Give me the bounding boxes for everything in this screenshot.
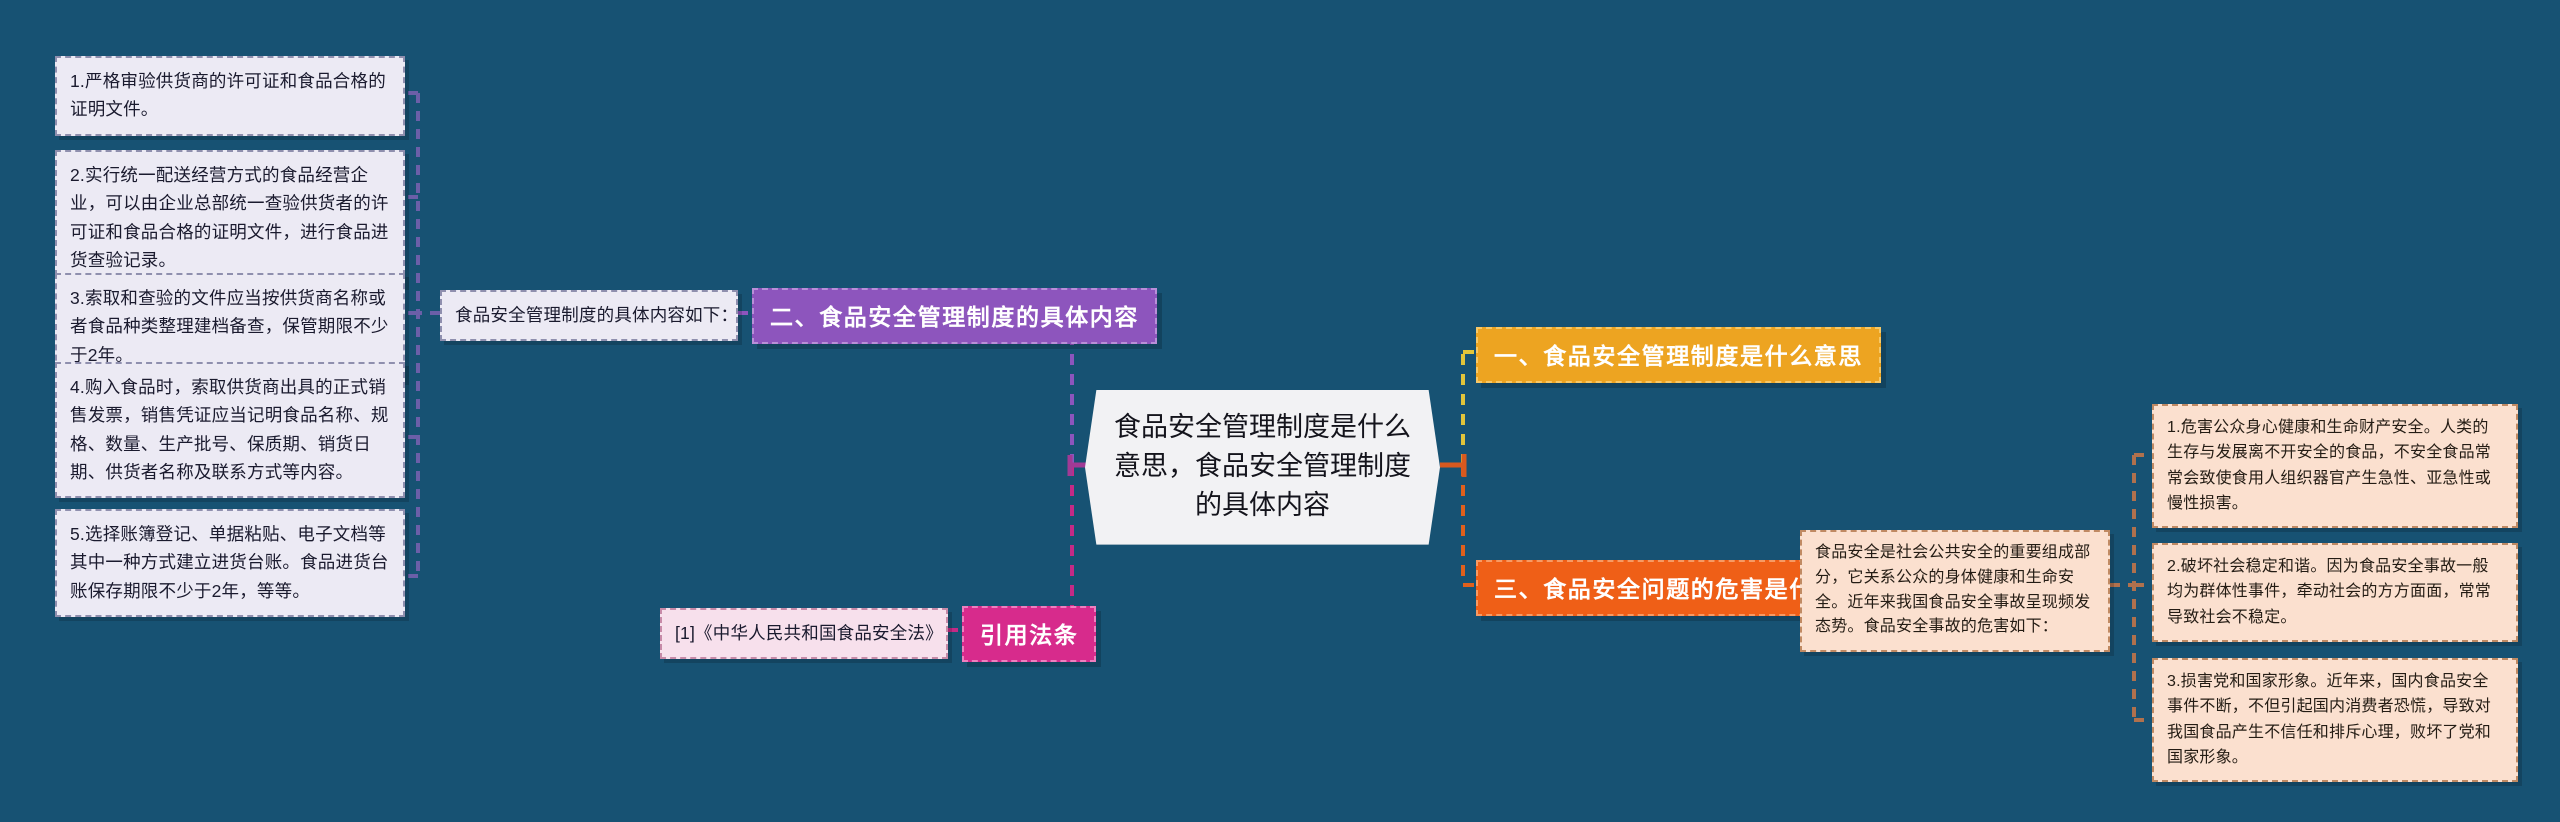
wire-right-intro-to-items [2110,455,2152,720]
citation-card[interactable]: [1]《中华人民共和国食品安全法》 [660,608,948,659]
branch-pill-citation[interactable]: 引用法条 [962,606,1096,662]
branch-pill-two[interactable]: 二、食品安全管理制度的具体内容 [752,288,1157,344]
left-detail-item-1[interactable]: 1.严格审验供货商的许可证和食品合格的证明文件。 [55,56,405,136]
wire-center-to-right-top [1463,352,1476,465]
wire-center-to-right-bottom [1463,465,1476,585]
right-harm-item-2[interactable]: 2.破坏社会稳定和谐。因为食品安全事故一般均为群体性事件，牵动社会的方方面面，常… [2152,543,2518,642]
left-detail-item-5[interactable]: 5.选择账簿登记、单据粘贴、电子文档等其中一种方式建立进货台账。食品进货台账保存… [55,509,405,617]
right-harm-item-3[interactable]: 3.损害党和国家形象。近年来，国内食品安全事件不断，不但引起国内消费者恐慌，导致… [2152,658,2518,782]
right-harm-item-1[interactable]: 1.危害公众身心健康和生命财产安全。人类的生存与发展离不开安全的食品，不安全食品… [2152,404,2518,528]
center-node[interactable]: 食品安全管理制度是什么意思，食品安全管理制度的具体内容 [1085,390,1440,545]
right-intro-card[interactable]: 食品安全是社会公共安全的重要组成部分，它关系公众的身体健康和生命安全。近年来我国… [1800,530,2110,652]
left-detail-item-4[interactable]: 4.购入食品时，索取供货商出具的正式销售发票，销售凭证应当记明食品名称、规格、数… [55,362,405,498]
left-intro-card[interactable]: 食品安全管理制度的具体内容如下： [440,290,738,341]
mindmap-canvas: 食品安全管理制度是什么意思，食品安全管理制度的具体内容 1.严格审验供货商的许可… [0,0,2560,822]
branch-pill-one[interactable]: 一、食品安全管理制度是什么意思 [1476,327,1881,383]
wire-intro-to-items [404,93,440,576]
left-detail-item-2[interactable]: 2.实行统一配送经营方式的食品经营企业，可以由企业总部统一查验供货者的许可证和食… [55,150,405,286]
